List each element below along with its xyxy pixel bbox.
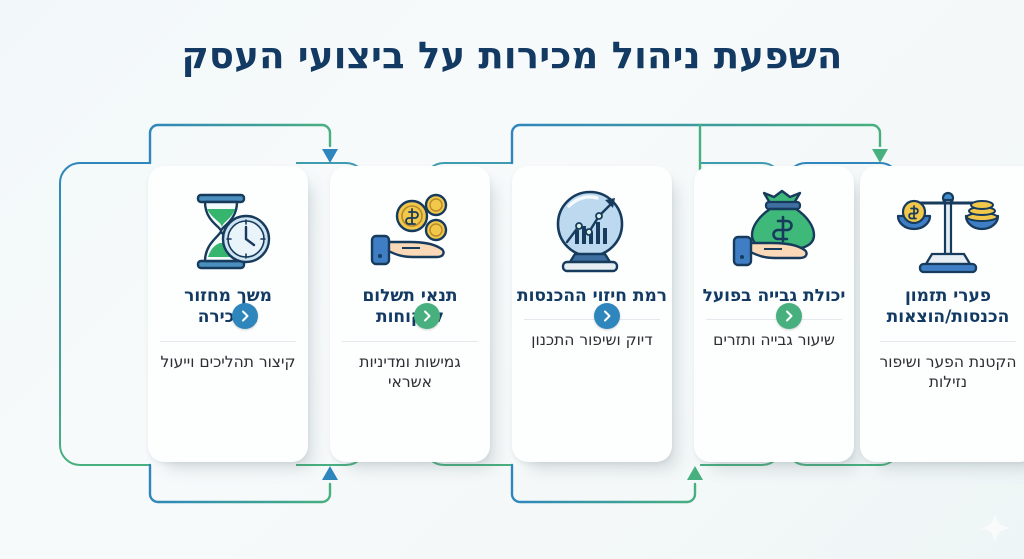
- card-title: תנאי תשלום ללקוחות: [335, 286, 485, 329]
- bottom-connector-left: [150, 465, 338, 502]
- card-timing-gaps[interactable]: פערי תזמון הכנסות/הוצאות הקטנת הפער ושיפ…: [860, 166, 1024, 462]
- chevron-right-icon: [238, 309, 252, 323]
- top-connector-left: [150, 125, 338, 163]
- chevron-right-icon: [600, 309, 614, 323]
- bottom-connector-right: [512, 465, 703, 502]
- card-collection-ability[interactable]: יכולת גבייה בפועל שיעור גבייה ותזרים: [694, 166, 854, 462]
- hand-money-bag-icon: [726, 182, 822, 282]
- chevron-right-icon: [420, 309, 434, 323]
- card-revenue-forecast[interactable]: רמת חיזוי ההכנסות דיוק ושיפור התכנון: [512, 166, 672, 462]
- card-title: פערי תזמון הכנסות/הוצאות: [873, 286, 1023, 329]
- hand-coins-icon: [362, 182, 458, 282]
- card-title: יכולת גבייה בפועל: [699, 286, 849, 307]
- card-text: שיעור גבייה ותזרים: [700, 330, 848, 350]
- card-payment-terms[interactable]: תנאי תשלום ללקוחות גמישות ומדיניות אשראי: [330, 166, 490, 462]
- chevron-right-badge-4[interactable]: [776, 303, 802, 329]
- card-divider: [342, 341, 478, 342]
- card-text: הקטנת הפער ושיפור נזילות: [874, 352, 1022, 392]
- card-divider: [524, 319, 660, 320]
- chevron-right-icon: [782, 309, 796, 323]
- card-title: רמת חיזוי ההכנסות: [517, 286, 667, 307]
- chevron-right-badge-1[interactable]: [232, 303, 258, 329]
- infographic-canvas: השפעת ניהול מכירות על ביצועי העסק: [0, 0, 1024, 559]
- card-title: משך מחזור המכירה: [153, 286, 303, 329]
- card-divider: [160, 341, 296, 342]
- chevron-right-badge-3[interactable]: [594, 303, 620, 329]
- balance-scale-icon: [896, 182, 1000, 282]
- crystal-ball-chart-icon: [545, 182, 639, 282]
- hourglass-clock-icon: [182, 182, 274, 282]
- chevron-right-badge-2[interactable]: [414, 303, 440, 329]
- sparkle-icon: [978, 511, 1012, 545]
- card-text: דיוק ושיפור התכנון: [518, 330, 666, 350]
- card-text: גמישות ומדיניות אשראי: [336, 352, 484, 392]
- card-divider: [706, 319, 842, 320]
- card-sales-cycle[interactable]: משך מחזור המכירה קיצור תהליכים וייעול: [148, 166, 308, 462]
- card-divider: [880, 341, 1016, 342]
- card-text: קיצור תהליכים וייעול: [154, 352, 302, 372]
